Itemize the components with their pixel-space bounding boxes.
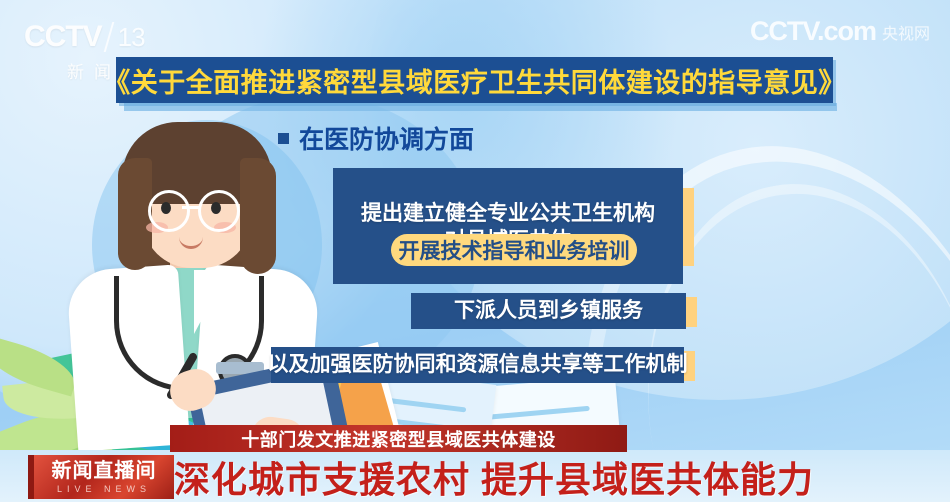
channel-logo-mark: CCTV 13 — [24, 22, 164, 52]
document-title-bar: 《关于全面推进紧密型县域医疗卫生共同体建设的指导意见》 — [116, 57, 833, 103]
sub-banner-text: 十部门发文推进紧密型县域医共体建设 — [241, 426, 556, 452]
document-title: 《关于全面推进紧密型县域医疗卫生共同体建设的指导意见》 — [103, 61, 846, 100]
headline-bar: 深化城市支援农村 提升县域医共体能力 — [174, 452, 934, 502]
content-block-3: 以及加强医防协同和资源信息共享等工作机制 — [271, 347, 684, 383]
square-bullet-icon — [278, 133, 289, 144]
channel-logo-slash — [103, 22, 114, 52]
site-watermark: CCTV.com 央视网 — [750, 18, 930, 45]
channel-logo-number: 13 — [118, 24, 145, 50]
content-block-1-line-1: 提出建立健全专业公共卫生机构 — [361, 201, 655, 228]
content-block-1: 提出建立健全专业公共卫生机构 对县域医共体 — [333, 168, 683, 284]
eye-left — [161, 202, 171, 214]
title-bar-shadow — [124, 103, 837, 111]
program-logo: 新闻直播间 LIVE NEWS — [28, 455, 174, 499]
content-block-1-pill-text: 开展技术指导和业务培训 — [399, 235, 630, 265]
eye-right — [211, 202, 221, 214]
hair-side-right — [240, 158, 276, 274]
content-block-3-line-1: 以及加强医防协同和资源信息共享等工作机制 — [268, 352, 688, 379]
channel-logo-cctv: CCTV — [24, 22, 102, 52]
section-subtitle-text: 在医防协调方面 — [299, 120, 474, 156]
accent-bar-1 — [683, 188, 694, 266]
broadcast-screenshot: CCTV 13 新闻 CCTV.com 央视网 《关于全面推进紧密型县域医疗卫生… — [0, 0, 950, 502]
watermark-cn: 央视网 — [882, 27, 930, 45]
program-logo-en: LIVE NEWS — [57, 485, 151, 494]
section-subtitle: 在医防协调方面 — [278, 120, 474, 156]
watermark-text: CCTV.com — [750, 18, 876, 45]
program-logo-cn: 新闻直播间 — [52, 461, 157, 481]
content-block-1-pill: 开展技术指导和业务培训 — [391, 234, 637, 266]
sub-banner: 十部门发文推进紧密型县域医共体建设 — [170, 425, 627, 452]
doctor-illustration — [66, 118, 316, 448]
hair-side-left — [118, 158, 152, 270]
accent-bar-2 — [686, 297, 697, 327]
content-block-2-line-1: 下派人员到乡镇服务 — [454, 298, 643, 325]
glasses-bridge — [182, 206, 200, 209]
content-block-2: 下派人员到乡镇服务 — [411, 293, 686, 329]
headline-text: 深化城市支援农村 提升县域医共体能力 — [174, 451, 814, 502]
